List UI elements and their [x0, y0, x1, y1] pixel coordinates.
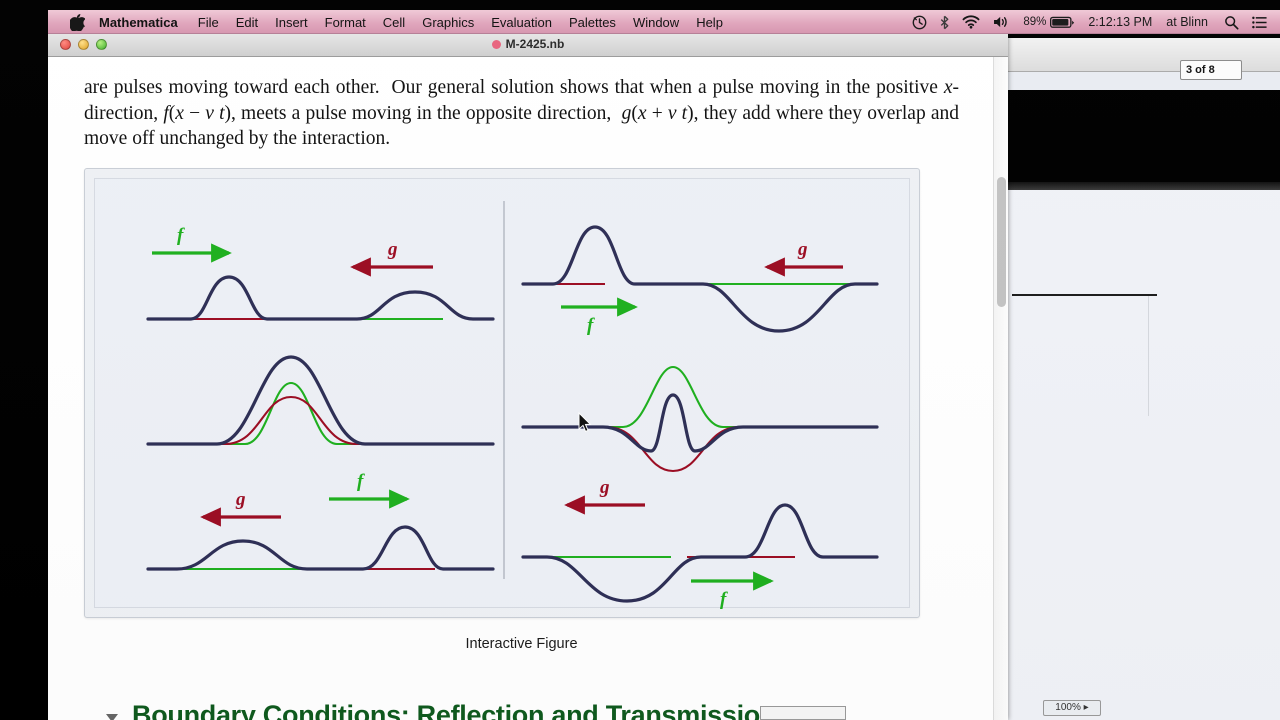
menu-bar-clock[interactable]: 2:12:13 PM: [1088, 15, 1152, 29]
label-f: f: [357, 471, 365, 492]
background-window-black-region: [1008, 90, 1280, 182]
background-window-page: [1008, 190, 1280, 720]
menu-item-palettes[interactable]: Palettes: [569, 15, 616, 30]
volume-icon[interactable]: [993, 15, 1010, 29]
label-g: g: [235, 489, 246, 510]
background-window-edge: [1148, 296, 1149, 416]
wave-pulse-diagram: .w { fill:none; stroke:#2e2f56; stroke-w…: [95, 179, 911, 609]
notebook-scrollbar[interactable]: [993, 57, 1008, 720]
background-window-rule: [1012, 294, 1157, 296]
menu-item-insert[interactable]: Insert: [275, 15, 308, 30]
scrollbar-thumb[interactable]: [997, 177, 1006, 307]
notebook-body: are pulses moving toward each other. Our…: [48, 57, 1008, 720]
notebook-content: are pulses moving toward each other. Our…: [48, 57, 993, 720]
section-title: Boundary Conditions: Reflection and Tran…: [132, 700, 776, 720]
letterbox-left: [0, 0, 48, 720]
menu-item-graphics[interactable]: Graphics: [422, 15, 474, 30]
menu-item-window[interactable]: Window: [633, 15, 679, 30]
window-title: M-2425.nb: [48, 37, 1008, 51]
apple-icon[interactable]: [70, 14, 85, 31]
menu-bar-user[interactable]: at Blinn: [1166, 15, 1208, 29]
menu-item-format[interactable]: Format: [325, 15, 366, 30]
label-f: f: [720, 589, 728, 609]
panel-right-middle: [523, 367, 877, 471]
cell-bracket-box[interactable]: [760, 706, 846, 720]
body-paragraph: are pulses moving toward each other. Our…: [84, 75, 959, 152]
panel-left-middle: [148, 357, 493, 444]
arrow-cursor-icon: [578, 412, 592, 433]
battery-icon[interactable]: [1050, 16, 1075, 29]
time-machine-icon[interactable]: [912, 15, 927, 30]
menu-item-mathematica[interactable]: Mathematica: [99, 15, 178, 30]
figure-canvas: .w { fill:none; stroke:#2e2f56; stroke-w…: [94, 178, 910, 608]
label-f: f: [177, 225, 185, 246]
window-titlebar[interactable]: M-2425.nb: [48, 32, 1008, 57]
zoom-level-control[interactable]: 100% ▸: [1043, 700, 1101, 716]
bluetooth-icon[interactable]: [940, 15, 949, 30]
panel-left-bottom: g f: [148, 471, 493, 569]
label-g: g: [387, 239, 398, 260]
search-icon[interactable]: [1224, 15, 1239, 30]
page-indicator[interactable]: 3 of 8: [1180, 60, 1242, 80]
label-g: g: [599, 477, 610, 498]
label-g: g: [797, 239, 808, 260]
panel-right-top: f g: [523, 227, 877, 336]
menu-item-help[interactable]: Help: [696, 15, 723, 30]
menu-bar: Mathematica File Edit Insert Format Cell…: [48, 10, 1280, 34]
menu-item-file[interactable]: File: [198, 15, 219, 30]
notebook-window: M-2425.nb are pulses moving toward each …: [48, 32, 1008, 720]
figure-caption: Interactive Figure: [84, 636, 959, 652]
window-title-text: M-2425.nb: [506, 37, 565, 51]
background-window-black-fade: [1008, 182, 1280, 190]
panel-right-bottom: g f: [523, 477, 877, 609]
battery-percent-label: 89%: [1023, 16, 1046, 28]
chevron-down-icon[interactable]: [106, 714, 118, 720]
wifi-icon[interactable]: [962, 15, 980, 29]
label-f: f: [587, 315, 595, 336]
menu-item-cell[interactable]: Cell: [383, 15, 405, 30]
notification-center-icon[interactable]: [1252, 16, 1267, 29]
notebook-document-icon: [492, 40, 501, 49]
menu-item-edit[interactable]: Edit: [236, 15, 258, 30]
interactive-figure[interactable]: .w { fill:none; stroke:#2e2f56; stroke-w…: [84, 168, 920, 618]
screen: 3 of 8 100% ▸ M-2425.nb are pulses movin…: [0, 0, 1280, 720]
panel-left-top: f g: [148, 225, 493, 319]
zoom-level-label: 100%: [1055, 702, 1081, 713]
menu-item-evaluation[interactable]: Evaluation: [491, 15, 552, 30]
